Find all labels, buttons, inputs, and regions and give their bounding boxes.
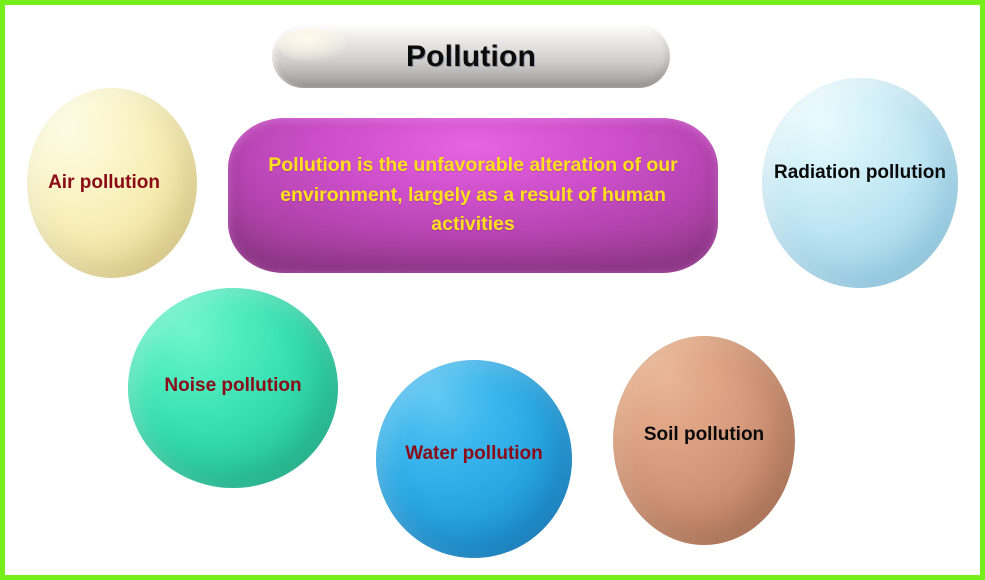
category-label-water: Water pollution [405,443,543,465]
category-node-water[interactable]: Water pollution [376,360,572,558]
diagram-title-label: Pollution [406,40,536,74]
definition-text: Pollution is the unfavorable alteration … [258,151,688,240]
diagram-title-node[interactable]: Pollution [272,25,670,88]
category-label-radiation: Radiation pollution [774,162,946,184]
category-label-air: Air pollution [48,172,160,194]
category-node-noise[interactable]: Noise pollution [128,288,338,488]
category-node-air[interactable]: Air pollution [27,88,197,278]
category-node-soil[interactable]: Soil pollution [613,336,795,545]
category-label-noise: Noise pollution [164,375,301,397]
definition-callout[interactable]: Pollution is the unfavorable alteration … [228,118,718,273]
category-node-radiation[interactable]: Radiation pollution [762,78,958,288]
pollution-diagram-canvas: Pollution Pollution is the unfavorable a… [0,0,985,580]
category-label-soil: Soil pollution [644,424,764,446]
